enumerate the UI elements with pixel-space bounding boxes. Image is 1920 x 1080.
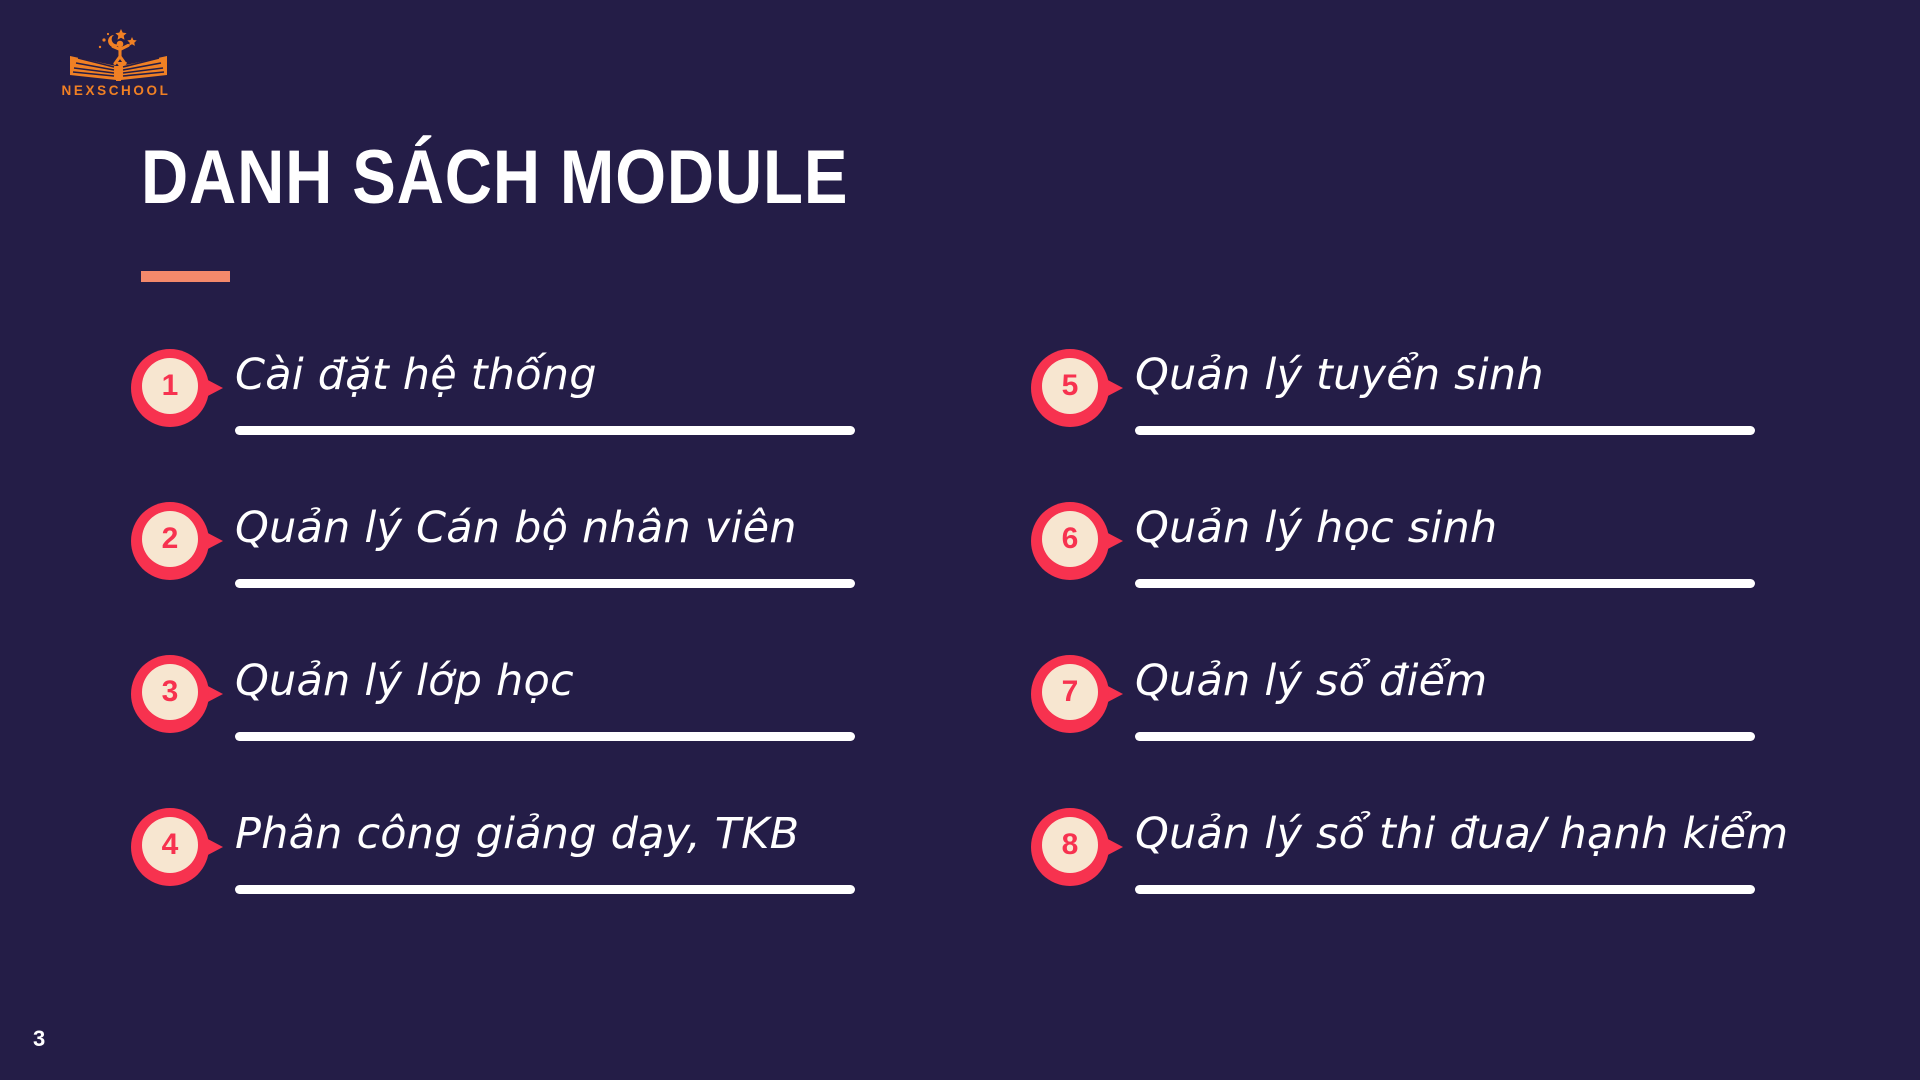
- list-item-label: Quản lý lớp học: [235, 654, 574, 710]
- list-item[interactable]: 5 Quản lý tuyển sinh: [1031, 340, 1761, 460]
- list-item-underline: [1135, 426, 1755, 435]
- pin-marker-icon: 5: [1031, 349, 1123, 427]
- page-number: 3: [33, 1026, 45, 1052]
- list-item[interactable]: 7 Quản lý sổ điểm: [1031, 646, 1761, 766]
- pin-number: 2: [162, 524, 179, 554]
- pin-number: 5: [1062, 371, 1079, 401]
- module-list: 1 Cài đặt hệ thống 2 Quản lý Cán bộ nhân…: [0, 0, 1920, 1080]
- pin-number: 1: [162, 371, 179, 401]
- pin-number: 6: [1062, 524, 1079, 554]
- list-item[interactable]: 2 Quản lý Cán bộ nhân viên: [131, 493, 861, 613]
- pin-number: 8: [1062, 830, 1079, 860]
- list-item[interactable]: 8 Quản lý sổ thi đua/ hạnh kiểm: [1031, 799, 1761, 919]
- list-item-label: Quản lý tuyển sinh: [1135, 348, 1544, 404]
- list-item[interactable]: 4 Phân công giảng dạy, TKB: [131, 799, 861, 919]
- list-item-label: Phân công giảng dạy, TKB: [235, 807, 799, 863]
- list-item-underline: [235, 732, 855, 741]
- pin-marker-icon: 1: [131, 349, 223, 427]
- pin-marker-icon: 3: [131, 655, 223, 733]
- pin-number: 4: [162, 830, 179, 860]
- list-item-underline: [235, 885, 855, 894]
- list-item-underline: [1135, 885, 1755, 894]
- pin-marker-icon: 8: [1031, 808, 1123, 886]
- list-item-underline: [235, 579, 855, 588]
- list-item[interactable]: 3 Quản lý lớp học: [131, 646, 861, 766]
- pin-marker-icon: 2: [131, 502, 223, 580]
- list-item-underline: [235, 426, 855, 435]
- list-item-underline: [1135, 732, 1755, 741]
- pin-number: 3: [162, 677, 179, 707]
- list-item-label: Cài đặt hệ thống: [235, 348, 597, 404]
- list-item-label: Quản lý Cán bộ nhân viên: [235, 501, 797, 557]
- list-item-label: Quản lý học sinh: [1135, 501, 1497, 557]
- pin-number: 7: [1062, 677, 1079, 707]
- list-item-underline: [1135, 579, 1755, 588]
- list-item[interactable]: 6 Quản lý học sinh: [1031, 493, 1761, 613]
- pin-marker-icon: 4: [131, 808, 223, 886]
- list-item-label: Quản lý sổ thi đua/ hạnh kiểm: [1135, 807, 1788, 863]
- slide-root: NEXSCHOOL DANH SÁCH MODULE 1 Cài đặt hệ …: [0, 0, 1920, 1080]
- pin-marker-icon: 6: [1031, 502, 1123, 580]
- list-item[interactable]: 1 Cài đặt hệ thống: [131, 340, 861, 460]
- pin-marker-icon: 7: [1031, 655, 1123, 733]
- list-item-label: Quản lý sổ điểm: [1135, 654, 1487, 710]
